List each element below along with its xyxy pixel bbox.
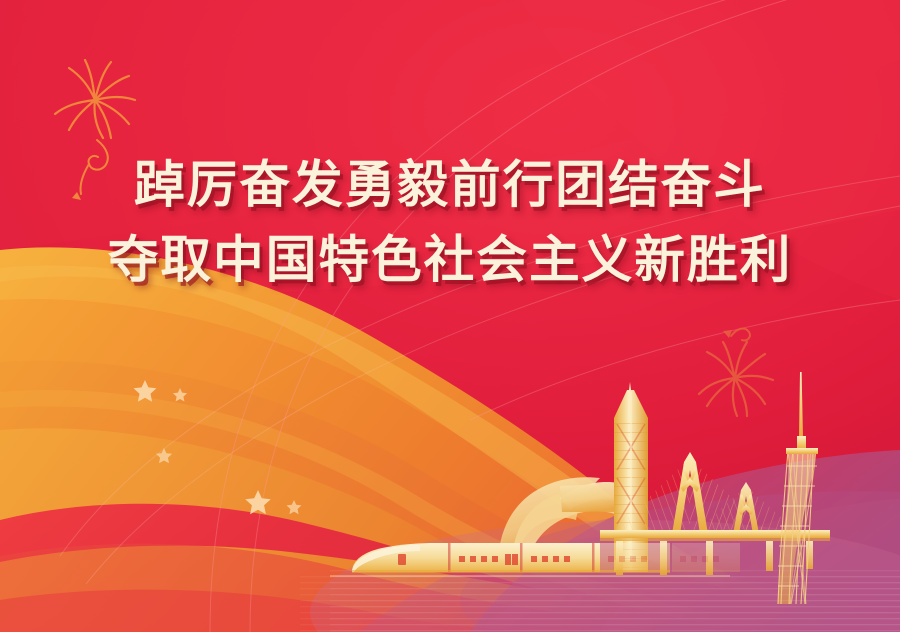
star-1	[134, 380, 157, 402]
firework-left	[55, 60, 135, 200]
star-3	[156, 448, 172, 463]
star-4	[245, 490, 271, 514]
decorations-group	[0, 0, 900, 632]
poster-canvas: 踔厉奋发勇毅前行团结奋斗 夺取中国特色社会主义新胜利	[0, 0, 900, 632]
firework-right	[699, 329, 773, 416]
star-2	[173, 388, 187, 402]
star-5	[287, 500, 302, 514]
